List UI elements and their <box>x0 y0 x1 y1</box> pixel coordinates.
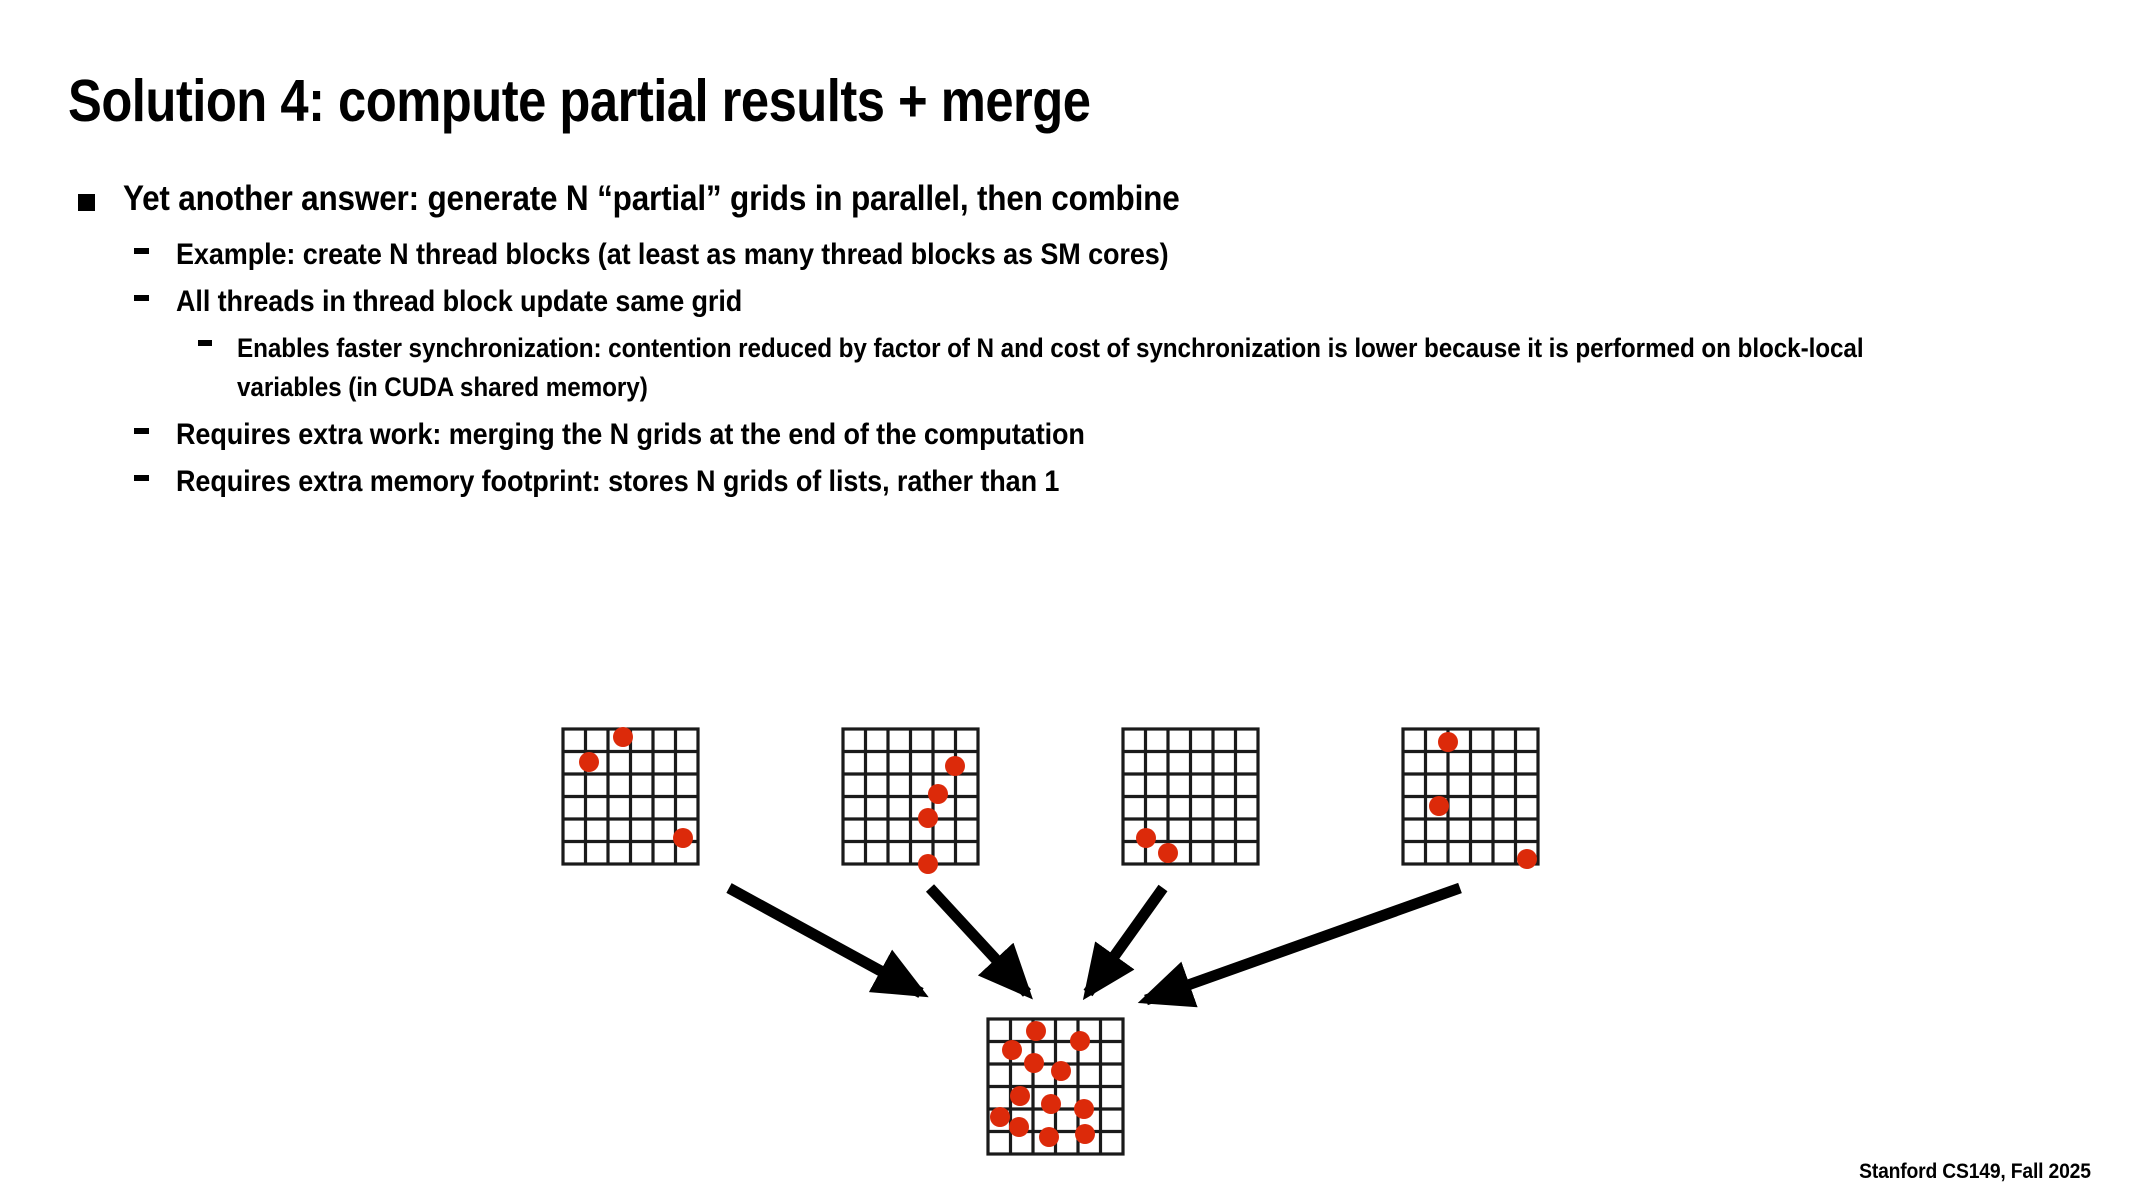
partial-grid-3-dot <box>1136 828 1156 848</box>
partial-grid-4 <box>1403 729 1538 869</box>
merged-grid-dot <box>1070 1031 1090 1051</box>
partial-grid-3-dot <box>1158 843 1178 863</box>
bullet-item-3: All threads in thread block update same … <box>134 283 2088 321</box>
partial-grid-1-border <box>563 729 698 864</box>
dash-bullet-icon <box>134 248 150 254</box>
slide-footer: Stanford CS149, Fall 2025 <box>1859 1160 2091 1184</box>
dash-bullet-icon <box>134 295 150 301</box>
merged-grid-dot <box>1039 1127 1059 1147</box>
square-bullet-icon <box>78 194 98 211</box>
partial-grid-2-dot <box>918 854 938 874</box>
dash-bullet-icon <box>198 340 213 346</box>
merge-arrow-4 <box>1146 888 1460 1000</box>
merge-arrow-3 <box>1088 888 1163 993</box>
partial-grid-1-dot <box>673 828 693 848</box>
partial-grid-4-dot <box>1517 849 1537 869</box>
partial-grid-2-border <box>843 729 978 864</box>
bullet-list: Yet another answer: generate N “partial”… <box>78 178 2088 509</box>
bullet-item-2: Example: create N thread blocks (at leas… <box>134 236 2088 274</box>
dash-bullet-icon <box>134 475 150 481</box>
bullet-text: Example: create N thread blocks (at leas… <box>176 236 1169 274</box>
merged-grid-dot <box>1002 1040 1022 1060</box>
merged-grid-dot <box>1026 1021 1046 1041</box>
bullet-item-6: Requires extra memory footprint: stores … <box>134 463 2088 501</box>
merged-grid-dot <box>990 1107 1010 1127</box>
partial-grid-2-dot <box>918 808 938 828</box>
bullet-text: Requires extra memory footprint: stores … <box>176 463 1059 501</box>
bullet-item-1: Yet another answer: generate N “partial”… <box>78 178 2088 220</box>
merge-arrow-1 <box>729 888 921 993</box>
partial-grid-1 <box>563 727 698 864</box>
merged-grid-dot <box>1009 1117 1029 1137</box>
dash-bullet-icon <box>134 428 150 434</box>
bullet-text: Yet another answer: generate N “partial”… <box>123 178 1180 220</box>
bullet-text: Enables faster synchronization: contenti… <box>237 329 1903 407</box>
page-title: Solution 4: compute partial results + me… <box>68 68 1090 134</box>
merged-grid-dot <box>1051 1061 1071 1081</box>
partial-grid-1-dot <box>613 727 633 747</box>
partial-grid-3 <box>1123 729 1258 864</box>
partial-grid-2-dot <box>945 756 965 776</box>
partial-grid-3-border <box>1123 729 1258 864</box>
merged-grid-border <box>988 1019 1123 1154</box>
partial-grid-2 <box>843 729 978 874</box>
bullet-text: Requires extra work: merging the N grids… <box>176 416 1085 454</box>
bullet-item-4: Enables faster synchronization: contenti… <box>198 329 2088 407</box>
merged-grid <box>988 1019 1123 1154</box>
merged-grid-dot <box>1075 1124 1095 1144</box>
merged-grid-dot <box>1010 1086 1030 1106</box>
partial-grid-2-dot <box>928 784 948 804</box>
merged-grid-dot <box>1041 1094 1061 1114</box>
partial-grid-1-dot <box>579 752 599 772</box>
merged-grid-dot <box>1074 1099 1094 1119</box>
bullet-text: All threads in thread block update same … <box>176 283 742 321</box>
merged-grid-dot <box>1024 1053 1044 1073</box>
merge-arrow-2 <box>930 888 1027 993</box>
partial-grid-4-dot <box>1438 732 1458 752</box>
bullet-item-5: Requires extra work: merging the N grids… <box>134 416 2088 454</box>
partial-grid-4-border <box>1403 729 1538 864</box>
slide-canvas: Solution 4: compute partial results + me… <box>0 0 2133 1200</box>
partial-grid-4-dot <box>1429 796 1449 816</box>
